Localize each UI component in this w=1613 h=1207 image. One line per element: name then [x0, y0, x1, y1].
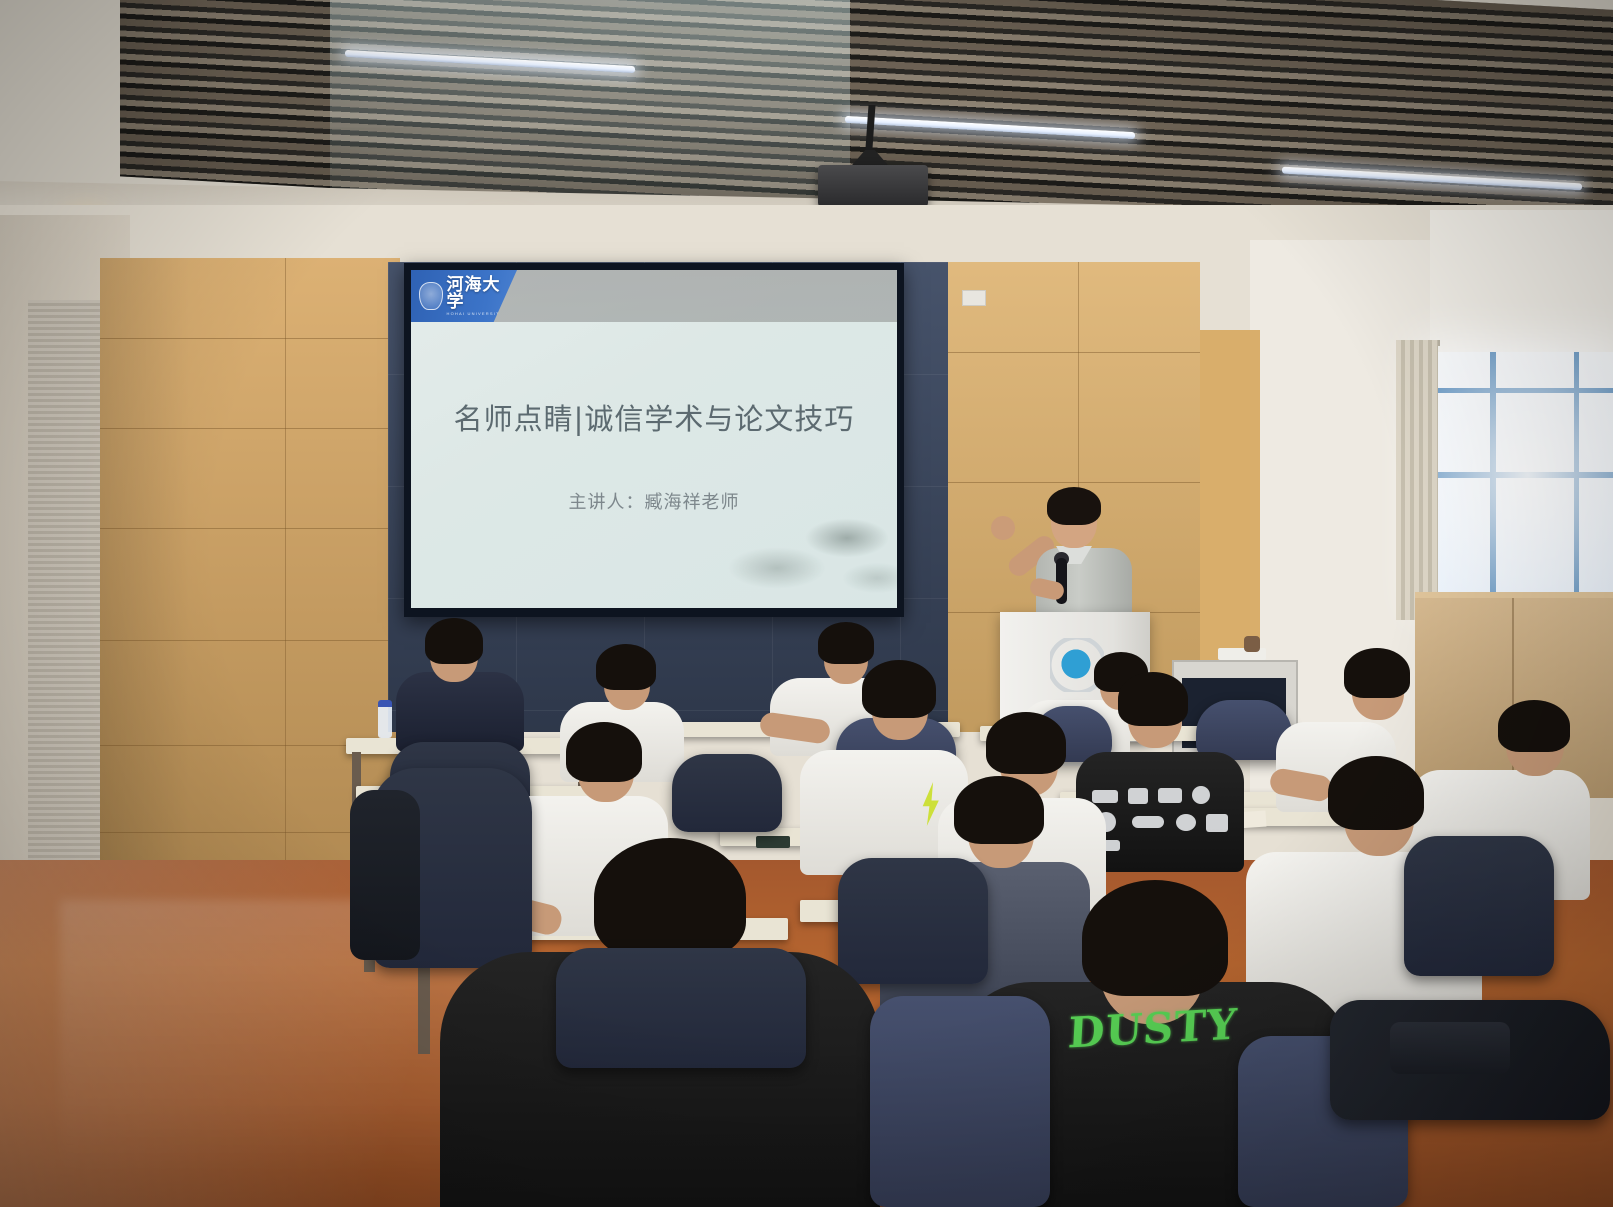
chair[interactable] [838, 858, 988, 984]
window-mullion [1432, 472, 1613, 478]
window-mullion [1574, 352, 1579, 598]
person-hair [566, 722, 642, 782]
window [1432, 352, 1613, 598]
person-hair [596, 644, 656, 690]
panel-seam [100, 640, 400, 641]
person-torso [396, 672, 524, 752]
person-hair [1344, 648, 1410, 698]
panel-seam [945, 482, 1200, 483]
ceiling [0, 0, 1613, 240]
panel-seam [100, 338, 400, 339]
backpack-pocket [1390, 1022, 1510, 1074]
dusty-shirt-text: DUSTY [1067, 999, 1239, 1057]
chair[interactable] [556, 948, 806, 1068]
cable-connector [1244, 636, 1260, 652]
shirt-patch-graphic [1192, 786, 1210, 804]
shirt-patch-graphic [1206, 814, 1228, 832]
person-hair [862, 660, 936, 718]
shirt-patch-graphic [1158, 788, 1182, 803]
person-hair [1328, 756, 1424, 830]
presenter-hand [991, 516, 1015, 540]
shirt-patch-graphic [1176, 814, 1196, 831]
chair[interactable] [1404, 836, 1554, 976]
presenter-hair [1047, 487, 1101, 525]
person-hair [425, 618, 483, 664]
person-hair [818, 622, 874, 664]
chair[interactable] [870, 996, 1050, 1207]
water-bottle[interactable] [378, 700, 392, 738]
curtain [1396, 340, 1438, 620]
person-hair [1082, 880, 1228, 996]
university-crest-icon [419, 282, 443, 310]
panel-seam [285, 258, 286, 878]
backpack[interactable] [350, 790, 420, 960]
panel-seam [100, 428, 400, 429]
shirt-patch-graphic [1092, 790, 1118, 803]
panel-seam [945, 352, 1200, 353]
slide-background-photo [687, 498, 897, 608]
shirt-patch-graphic [1128, 788, 1148, 804]
wall-sensor-icon [962, 290, 986, 306]
person-hair [986, 712, 1066, 774]
person-hair [954, 776, 1044, 844]
person-hair [1498, 700, 1570, 752]
slide-title: 名师点睛|诚信学术与论文技巧 [411, 396, 897, 438]
panel-seam [100, 528, 400, 529]
slide-presenter-line: 主讲人：臧海祥老师 [411, 488, 897, 514]
lecture-hall-photo: 河海大学 HOHAI UNIVERSITY 名师点睛|诚信学术与论文技巧 主讲人… [0, 0, 1613, 1207]
chair[interactable] [672, 754, 782, 832]
ceiling-projector-icon [818, 165, 928, 207]
window-mullion [1490, 352, 1496, 598]
shirt-patch-graphic [1132, 816, 1164, 828]
person-hair [594, 838, 746, 958]
person-hair [1118, 672, 1188, 726]
window-mullion [1432, 388, 1613, 393]
smartphone[interactable] [756, 836, 790, 848]
projected-slide: 河海大学 HOHAI UNIVERSITY 名师点睛|诚信学术与论文技巧 主讲人… [411, 270, 897, 608]
